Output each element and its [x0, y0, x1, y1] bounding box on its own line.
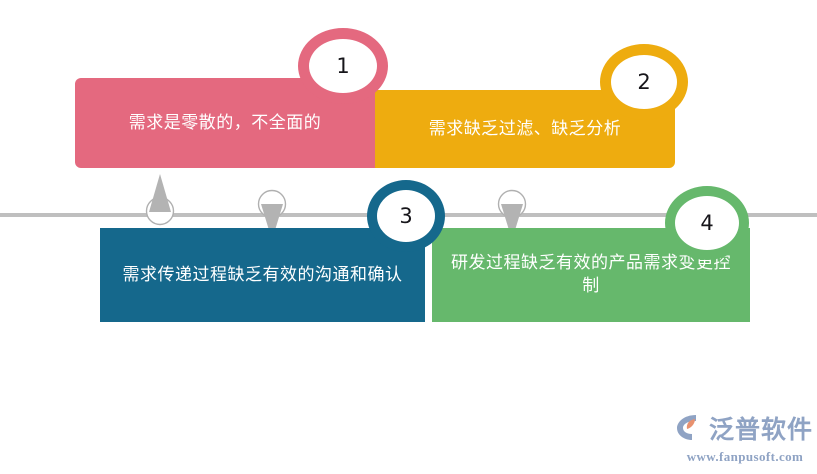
number-badge-1: 1 — [298, 28, 388, 104]
callout-box-2-label: 需求缺乏过滤、缺乏分析 — [389, 118, 661, 141]
callout-box-4-label: 研发过程缺乏有效的产品需求变更控制 — [446, 252, 736, 298]
number-badge-3-value: 3 — [399, 204, 412, 228]
infographic-canvas: 需求是零散的，不全面的 需求缺乏过滤、缺乏分析 需求传递过程缺乏有效的沟通和确认… — [0, 0, 817, 474]
number-badge-4-value: 4 — [700, 211, 713, 235]
watermark: 泛普软件 www.fanpusoft.com — [675, 412, 815, 468]
callout-box-3-label: 需求传递过程缺乏有效的沟通和确认 — [114, 264, 411, 287]
fanpu-swoosh-logo-icon — [675, 412, 705, 446]
number-badge-2-value: 2 — [637, 70, 650, 94]
callout-box-1-label: 需求是零散的，不全面的 — [89, 112, 361, 135]
watermark-url: www.fanpusoft.com — [675, 449, 815, 465]
number-badge-1-value: 1 — [336, 54, 349, 78]
watermark-brand: 泛普软件 — [709, 417, 813, 442]
marker-up-icon — [138, 172, 182, 226]
number-badge-4: 4 — [665, 186, 749, 260]
number-badge-3: 3 — [367, 180, 445, 252]
callout-box-3[interactable]: 需求传递过程缺乏有效的沟通和确认 — [100, 228, 425, 322]
number-badge-2: 2 — [600, 44, 688, 120]
